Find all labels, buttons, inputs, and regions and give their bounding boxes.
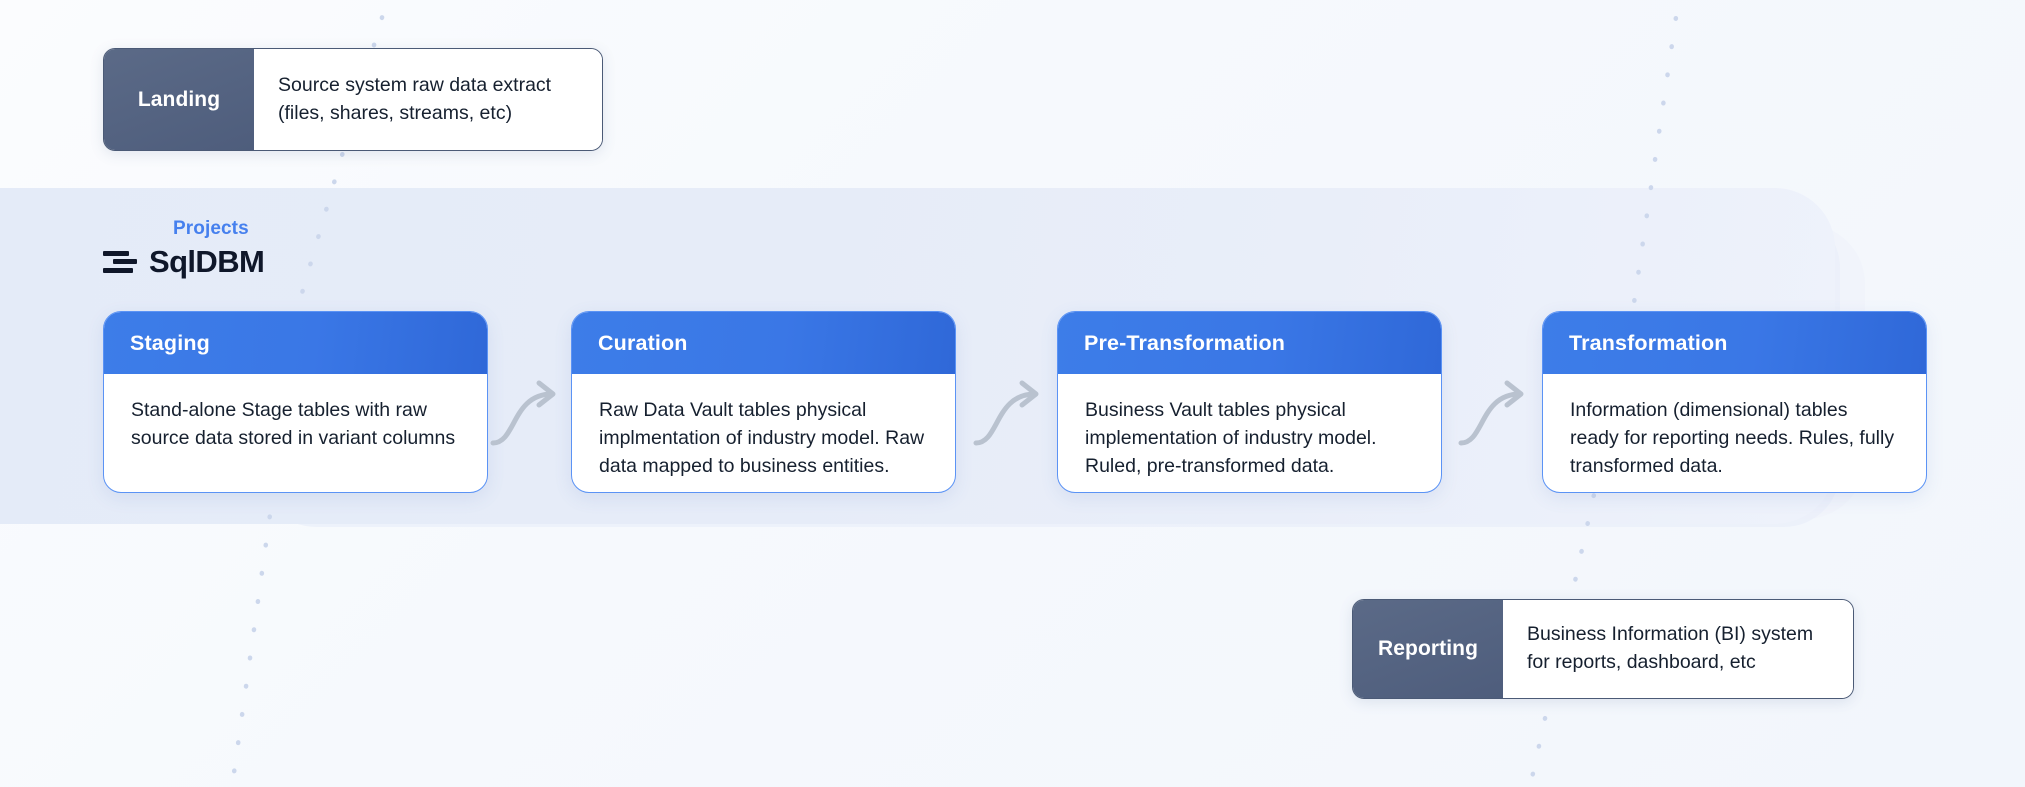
- stage-card-title: Transformation: [1569, 331, 1728, 356]
- stage-card-title: Staging: [130, 331, 210, 356]
- stage-card-transformation[interactable]: Transformation Information (dimensional)…: [1542, 311, 1927, 493]
- stage-card-title: Pre-Transformation: [1084, 331, 1285, 356]
- stage-card-pre-transformation[interactable]: Pre-Transformation Business Vault tables…: [1057, 311, 1442, 493]
- stage-card-header: Staging: [104, 312, 487, 374]
- brand-row: SqlDBM: [103, 246, 363, 277]
- landing-stage-pill[interactable]: Landing Source system raw data extract (…: [103, 48, 603, 151]
- diagram-canvas: Landing Source system raw data extract (…: [0, 0, 2025, 787]
- sqldbm-logo-icon: [103, 249, 137, 275]
- stage-card-title: Curation: [598, 331, 688, 356]
- brand-name-label: SqlDBM: [149, 246, 264, 277]
- reporting-stage-pill[interactable]: Reporting Business Information (BI) syst…: [1352, 599, 1854, 699]
- curved-arrow-right-icon: [973, 380, 1051, 452]
- stage-card-description: Stand-alone Stage tables with raw source…: [104, 374, 487, 452]
- stage-card-description: Information (dimensional) tables ready f…: [1543, 374, 1926, 480]
- stage-card-header: Pre-Transformation: [1058, 312, 1441, 374]
- stage-card-curation[interactable]: Curation Raw Data Vault tables physical …: [571, 311, 956, 493]
- stage-card-header: Curation: [572, 312, 955, 374]
- brand-eyebrow-label: Projects: [173, 218, 363, 240]
- stage-card-description: Raw Data Vault tables physical implmenta…: [572, 374, 955, 480]
- stage-card-staging[interactable]: Staging Stand-alone Stage tables with ra…: [103, 311, 488, 493]
- brand-block: Projects SqlDBM: [103, 218, 363, 277]
- curved-arrow-right-icon: [490, 380, 568, 452]
- stage-card-description: Business Vault tables physical implement…: [1058, 374, 1441, 480]
- reporting-stage-description: Business Information (BI) system for rep…: [1503, 600, 1853, 698]
- landing-stage-label: Landing: [104, 49, 254, 150]
- curved-arrow-right-icon: [1458, 380, 1536, 452]
- reporting-stage-label: Reporting: [1353, 600, 1503, 698]
- landing-stage-description: Source system raw data extract (files, s…: [254, 49, 602, 150]
- stage-card-header: Transformation: [1543, 312, 1926, 374]
